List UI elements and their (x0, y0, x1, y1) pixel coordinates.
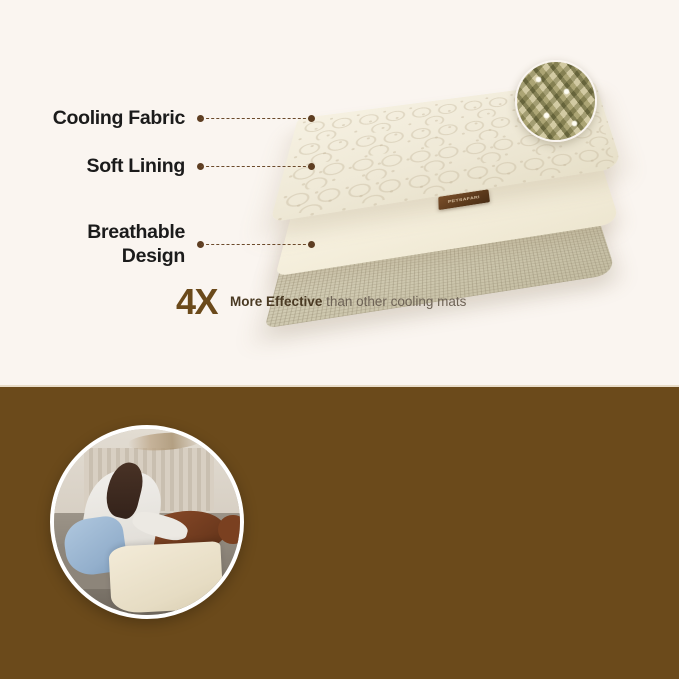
leader-dot-start (197, 163, 204, 170)
leader-line (197, 115, 315, 123)
infographic-page: PETSAFARI Cooling Fabric Soft Lining (0, 0, 679, 679)
claim-text: More Effective than other cooling mats (230, 293, 466, 312)
leader-dash (201, 244, 311, 245)
effectiveness-claim: 4X More Effective than other cooling mat… (176, 284, 466, 320)
callout-label: Cooling Fabric (37, 107, 185, 130)
leader-line (197, 241, 315, 249)
callout-label: Soft Lining (37, 155, 185, 178)
callout-breathable-design: Breathable Design (37, 221, 315, 269)
claim-multiplier: 4X (176, 284, 217, 320)
product-layers-section: PETSAFARI Cooling Fabric Soft Lining (0, 0, 679, 385)
claim-strong-text: More Effective (230, 294, 322, 309)
fabric-closeup-inset (515, 60, 597, 142)
leader-dash (201, 118, 311, 119)
brand-tag-label: PETSAFARI (448, 195, 480, 204)
callout-cooling-fabric: Cooling Fabric (37, 107, 315, 130)
callout-label: Breathable Design (37, 221, 185, 269)
leader-dot-end (308, 163, 315, 170)
claim-rest-text: than other cooling mats (322, 294, 466, 309)
leader-dot-start (197, 115, 204, 122)
lifestyle-photo (50, 425, 244, 619)
features-banner-section: BUILT FOR FORM & FUNCTION Waterproof won… (0, 387, 679, 679)
leader-dot-end (308, 241, 315, 248)
leader-line (197, 163, 315, 171)
callout-soft-lining: Soft Lining (37, 155, 315, 178)
leader-dot-start (197, 241, 204, 248)
leader-dot-end (308, 115, 315, 122)
leader-dash (201, 166, 311, 167)
